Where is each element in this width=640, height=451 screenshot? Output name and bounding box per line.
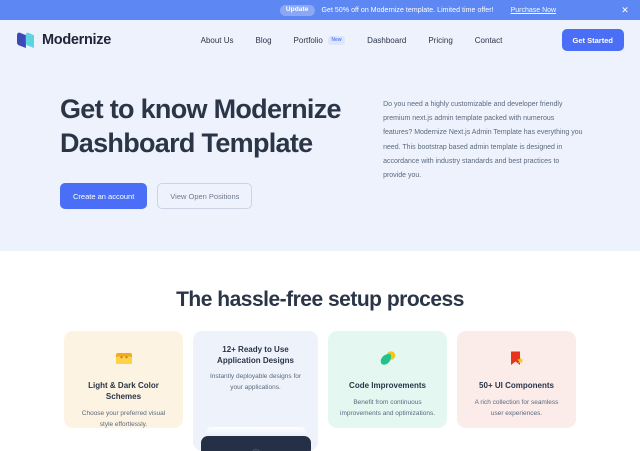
feature-card-code-improvements[interactable]: Code Improvements Benefit from continuou… bbox=[328, 331, 447, 428]
close-icon[interactable]: ✕ bbox=[620, 5, 630, 15]
nav-label: About Us bbox=[201, 36, 234, 45]
nav-item-portfolio[interactable]: Portfolio New bbox=[294, 36, 346, 45]
hero-right-column: Do you need a highly customizable and de… bbox=[383, 92, 584, 209]
laptop-icon bbox=[201, 427, 311, 451]
hero-title-line-2: Dashboard Template bbox=[60, 128, 312, 158]
hero-left-column: Get to know Modernize Dashboard Template… bbox=[60, 92, 359, 209]
feature-card-application-designs[interactable]: 12+ Ready to Use Application Designs Ins… bbox=[193, 331, 318, 451]
purchase-now-link[interactable]: Purchase Now bbox=[511, 7, 557, 14]
nav-label: Portfolio bbox=[294, 36, 323, 45]
landing-page: Update Get 50% off on Modernize template… bbox=[0, 0, 640, 451]
nav-item-blog[interactable]: Blog bbox=[256, 36, 272, 45]
view-open-positions-button[interactable]: View Open Positions bbox=[157, 183, 252, 209]
feature-card-color-schemes[interactable]: Light & Dark Color Schemes Choose your p… bbox=[64, 331, 183, 428]
feature-card-ui-components[interactable]: 50+ UI Components A rich collection for … bbox=[457, 331, 576, 428]
feature-card-title: 12+ Ready to Use Application Designs bbox=[205, 344, 306, 366]
update-badge: Update bbox=[280, 5, 315, 16]
nav-item-about-us[interactable]: About Us bbox=[201, 36, 234, 45]
feature-card-description: Instantly deployable designs for your ap… bbox=[205, 372, 306, 393]
announcement-banner: Update Get 50% off on Modernize template… bbox=[0, 0, 640, 20]
navbar: Modernize About Us Blog Portfolio New Da… bbox=[0, 20, 640, 60]
feature-cards: Light & Dark Color Schemes Choose your p… bbox=[64, 331, 576, 451]
feature-card-title: 50+ UI Components bbox=[469, 380, 564, 391]
hero-title-line-1: Get to know Modernize bbox=[60, 94, 341, 124]
nav-label: Contact bbox=[475, 36, 503, 45]
hero-paragraph: Do you need a highly customizable and de… bbox=[383, 98, 584, 183]
feature-card-title: Code Improvements bbox=[340, 380, 435, 391]
feature-card-description: A rich collection for seamless user expe… bbox=[469, 398, 564, 419]
nav-item-contact[interactable]: Contact bbox=[475, 36, 503, 45]
nav-item-dashboard[interactable]: Dashboard bbox=[367, 36, 406, 45]
announcement-content: Update Get 50% off on Modernize template… bbox=[84, 5, 556, 16]
bookmark-star-icon bbox=[469, 347, 564, 369]
brand-name: Modernize bbox=[42, 32, 111, 48]
leaf-icon bbox=[340, 347, 435, 369]
modernize-logo-icon bbox=[16, 31, 35, 49]
feature-card-description: Choose your preferred visual style effor… bbox=[76, 409, 171, 428]
hero-actions: Create an account View Open Positions bbox=[60, 183, 359, 209]
nav-label: Blog bbox=[256, 36, 272, 45]
feature-card-title: Light & Dark Color Schemes bbox=[76, 380, 171, 402]
get-started-button[interactable]: Get Started bbox=[562, 29, 624, 51]
hero-section: Modernize About Us Blog Portfolio New Da… bbox=[0, 20, 640, 251]
hero-title: Get to know Modernize Dashboard Template bbox=[60, 92, 359, 160]
nav-item-pricing[interactable]: Pricing bbox=[428, 36, 452, 45]
brand[interactable]: Modernize bbox=[16, 31, 111, 49]
features-heading: The hassle-free setup process bbox=[0, 288, 640, 312]
nav-label: Dashboard bbox=[367, 36, 406, 45]
new-badge: New bbox=[328, 36, 345, 45]
create-an-account-button[interactable]: Create an account bbox=[60, 183, 147, 209]
nav-links: About Us Blog Portfolio New Dashboard Pr… bbox=[141, 36, 503, 45]
wallet-icon bbox=[76, 347, 171, 369]
nav-label: Pricing bbox=[428, 36, 452, 45]
feature-card-description: Benefit from continuous improvements and… bbox=[340, 398, 435, 419]
hero-body: Get to know Modernize Dashboard Template… bbox=[0, 92, 640, 209]
announcement-message: Get 50% off on Modernize template. Limit… bbox=[322, 7, 494, 14]
